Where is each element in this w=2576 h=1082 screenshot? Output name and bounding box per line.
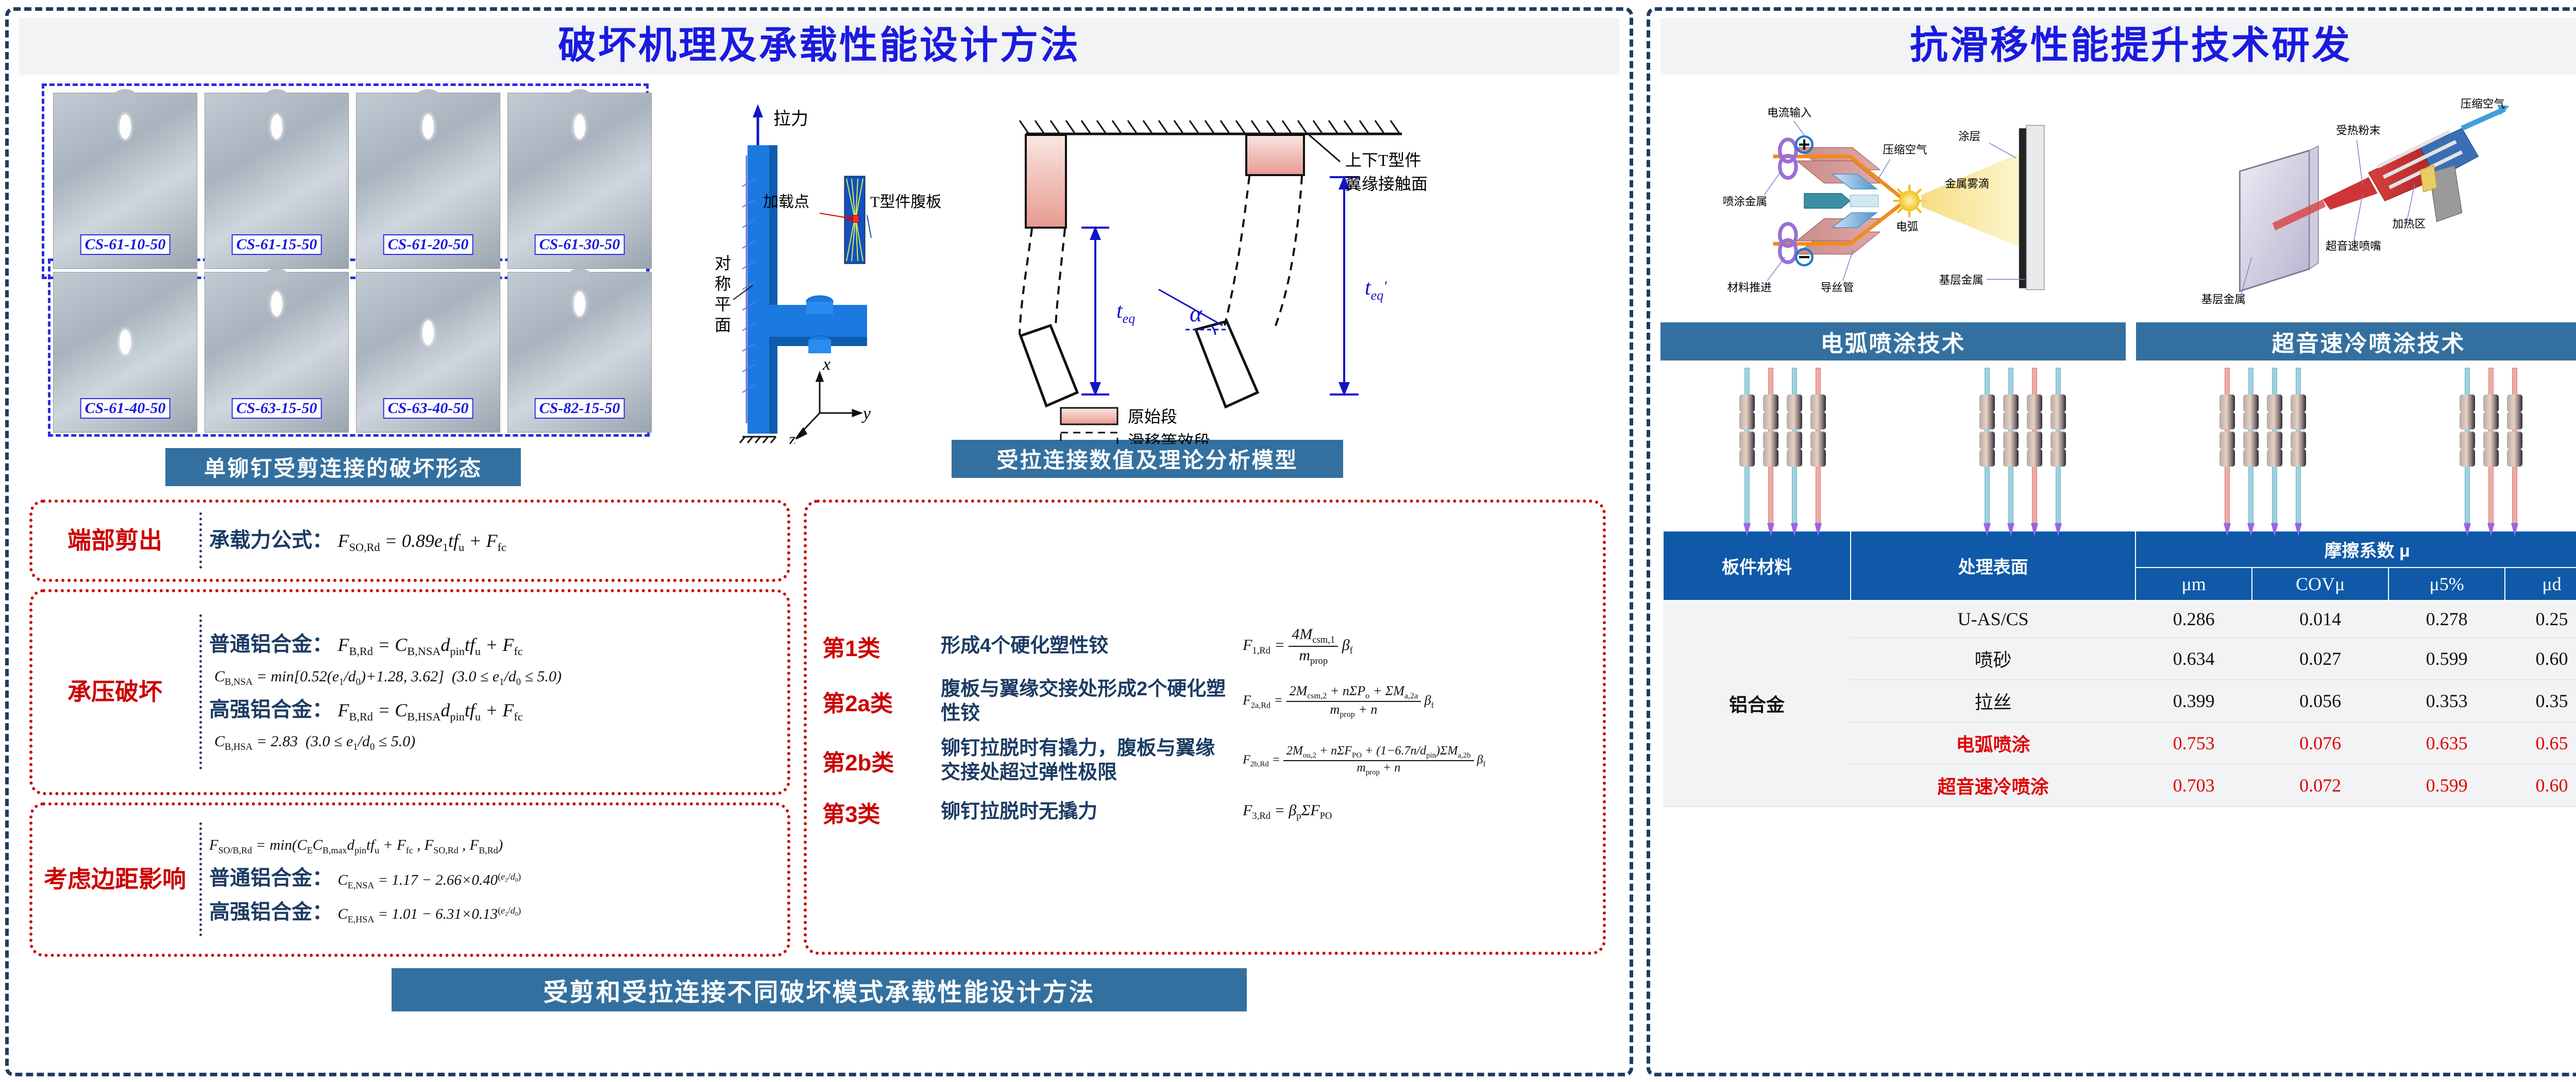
bolt-nut-icon [2460,394,2475,412]
bolt-nut-icon [1810,432,1826,449]
rivet-hole-icon [574,291,585,316]
formula-prefix: 高强铝合金： [209,698,333,721]
failure-class-row: 第2b类 铆钉拉脱时有撬力，腹板与翼缘交接处超过弹性极限 F2b,Rd = 2M… [822,736,1485,785]
specimen-label: CS-61-40-50 [80,398,171,419]
specimen-label: CS-63-40-50 [383,398,473,419]
tension-connection-diagram: 拉力 [665,83,1603,444]
svg-text:称: 称 [715,274,731,293]
bolt-specimen [2219,368,2235,522]
bolt-nut-icon [2460,432,2475,449]
svg-text:原始段: 原始段 [1128,407,1177,426]
bolt-nut-icon [1979,432,1995,449]
bolt-specimen [2267,368,2282,522]
bolt-nut-icon [1739,412,1755,430]
bolt-nut-icon [2003,394,2019,412]
bolt-specimen [2483,368,2499,522]
bolt-nut-icon [1739,394,1755,412]
bolt-nut-icon [1739,432,1755,449]
cell-cov: 0.027 [2252,638,2388,680]
formula-prefix: 承载力公式： [209,529,333,552]
rivet-hole-icon [120,330,131,354]
col-mu-m: μm [2136,568,2252,600]
rivet-bump-icon [265,89,288,102]
formula-prefix: 普通铝合金： [209,867,333,889]
bolt-nut-icon [2483,432,2499,449]
col-cov-mu: COVμ [2252,568,2388,600]
divider [199,614,202,769]
svg-text:z: z [788,430,795,444]
formula-censa: CE,NSA = 1.17 − 2.66×0.40(e2/d0) [337,872,521,888]
svg-text:金属雾滴: 金属雾滴 [1945,178,1989,190]
failure-class-row: 第3类 铆钉拉脱时无撬力 F3,Rd = βpΣFPO [822,796,1332,829]
bolt-nut-icon [2267,394,2282,412]
bolt-nut-icon [2243,394,2259,412]
svg-text:上下T型件: 上下T型件 [1345,151,1421,169]
panel-1-title: 破坏机理及承载性能设计方法 [19,18,1619,75]
rivet-hole-icon [271,291,282,316]
bolt-nut-icon [2267,412,2282,430]
bolt-group [1739,368,1826,522]
bolt-nut-icon [1810,449,1826,467]
bolt-specimen [1810,368,1826,522]
svg-text:基层金属: 基层金属 [2201,293,2246,305]
failure-class-text: 腹板与翼缘交接处形成2个硬化塑性铰 [941,677,1229,726]
failure-mode-label: 端部剪出 [38,527,192,554]
cell-mu5: 0.635 [2388,722,2505,764]
col-surface: 处理表面 [1851,531,2136,600]
failure-class-text: 铆钉拉脱时有撬力，腹板与翼缘交接处超过弹性极限 [941,736,1229,785]
cell-surface: 喷砂 [1851,638,2136,680]
bolt-specimen [2050,368,2066,522]
failure-class-formula: F2b,Rd = 2Mou,2 + nΣFPO + (1−6.7n/dpin)Σ… [1243,744,1485,777]
specimen-photo: CS-61-10-50 [53,93,197,269]
divider [199,822,202,936]
cell-surface: 拉丝 [1851,680,2136,722]
cell-mu5: 0.599 [2388,638,2505,680]
bolt-group [2219,368,2306,522]
cell-mu-m: 0.399 [2136,680,2252,722]
bolt-specimen-rows [1663,368,2576,522]
load-arrow-icon [2247,523,2255,537]
svg-text:y: y [861,404,871,423]
bolt-group [2460,368,2522,522]
formula-cehsa: CE,HSA = 1.01 − 6.31×0.13(e2/d0) [337,906,521,922]
bolt-nut-icon [2219,432,2235,449]
svg-text:x: x [822,355,831,374]
bolt-nut-icon [2027,432,2042,449]
bolt-specimen [2291,368,2306,522]
bolt-nut-icon [1739,449,1755,467]
svg-text:加载点: 加载点 [763,194,809,211]
bolt-nut-icon [2483,449,2499,467]
load-arrow-icon [2487,523,2495,537]
bolt-nut-icon [2243,412,2259,430]
bolt-specimen [2243,368,2259,522]
load-arrow-icon [2271,523,2278,537]
cell-material: 铝合金 [1663,600,1851,806]
design-formula-grid: 端部剪出 承载力公式： FSO,Rd = 0.89e1tfu + Ffc 承压破… [29,500,1606,957]
svg-text:喷涂金属: 喷涂金属 [1723,195,1767,208]
cell-mu5: 0.278 [2388,600,2505,638]
cell-mu-m: 0.703 [2136,764,2252,806]
cell-surface: U-AS/CS [1851,600,2136,638]
cell-mu-d: 0.25 [2505,600,2576,638]
load-arrow-icon [1743,523,1751,537]
bolt-nut-icon [2219,394,2235,412]
table-row: 铝合金 U-AS/CS 0.286 0.014 0.278 0.25 [1663,600,2576,638]
cell-cov: 0.072 [2252,764,2388,806]
cell-mu5: 0.599 [2388,764,2505,806]
rivet-hole-icon [120,114,131,139]
bolt-nut-icon [2483,412,2499,430]
specimen-photo: CS-61-30-50 [507,93,652,269]
bolt-nut-icon [2291,432,2306,449]
poster-board: 破坏机理及承载性能设计方法 CS-61-10-50 CS-61-15-50 [0,0,2576,1082]
failure-class-text: 铆钉拉脱时无撬力 [941,800,1229,825]
rivet-bump-icon [568,89,591,102]
failure-class-row: 第1类 形成4个硬化塑性铰 F1,Rd = 4Mcsm,1mprop βf [822,626,1353,667]
bolt-nut-icon [2050,449,2066,467]
cold-spray-card: 受热粉末 压缩空气 加热区 超音速喷嘴 基层金属 超音速冷喷涂技术 [2136,82,2576,360]
rivet-hole-icon [422,114,434,139]
bolt-nut-icon [1810,394,1826,412]
bolt-nut-icon [2219,449,2235,467]
failure-mode-body: FSO/B,Rd = min(CECB,maxdpintfu + Ffc , F… [209,832,521,927]
specimen-photo: CS-61-40-50 [53,272,197,433]
bolt-nut-icon [2507,449,2522,467]
bolt-specimen [1787,368,1802,522]
bolt-nut-icon [2483,394,2499,412]
bolt-specimen [2460,368,2475,522]
load-arrow-icon [2007,523,2014,537]
panel-2-title: 抗滑移性能提升技术研发 [1660,18,2576,75]
bolt-nut-icon [2003,449,2019,467]
failure-mode-bearing: 承压破坏 普通铝合金： FB,Rd = CB,NSAdpintfu + Ffc … [29,589,790,795]
caption-shear-failure-modes: 单铆钉受剪连接的破坏形态 [165,448,521,486]
failure-class-row: 第2a类 腹板与翼缘交接处形成2个硬化塑性铰 F2a,Rd = 2Mcsm,2 … [822,677,1434,726]
spray-technology-row: 电流输入 喷涂金属 材料推进 导丝管 压缩空气 电弧 涂层 金属雾滴 基层金属 [1660,82,2576,360]
cell-mu-d: 0.60 [2505,764,2576,806]
bolt-specimen [1979,368,1995,522]
cell-cov: 0.014 [2252,600,2388,638]
specimen-label: CS-61-20-50 [383,234,473,255]
load-arrow-icon [2055,523,2062,537]
bolt-nut-icon [1763,394,1778,412]
arc-spray-banner: 电弧喷涂技术 [1660,322,2126,360]
svg-text:对: 对 [715,254,731,272]
svg-text:平: 平 [715,295,731,314]
specimen-label: CS-82-15-50 [535,398,625,419]
bolt-nut-icon [1979,449,1995,467]
bolt-nut-icon [1763,412,1778,430]
load-arrow-icon [2031,523,2038,537]
load-arrow-icon [2464,523,2471,537]
divider [199,512,202,569]
cell-mu-d: 0.60 [2505,638,2576,680]
svg-text:涂层: 涂层 [1958,130,1980,143]
bolt-nut-icon [2507,432,2522,449]
bolt-nut-icon [1810,412,1826,430]
formula-shearout: FSO,Rd = 0.89e1tfu + Ffc [337,530,506,551]
specimen-photo: CS-63-40-50 [356,272,500,433]
bolt-nut-icon [2050,432,2066,449]
svg-text:导丝管: 导丝管 [1821,281,1854,294]
cell-mu-m: 0.753 [2136,722,2252,764]
col-material: 板件材料 [1663,531,1851,600]
failure-mode-column: 端部剪出 承载力公式： FSO,Rd = 0.89e1tfu + Ffc 承压破… [29,500,790,957]
bolt-nut-icon [2291,449,2306,467]
bolt-group [1979,368,2066,522]
failure-mode-body: 普通铝合金： FB,Rd = CB,NSAdpintfu + Ffc CB,NS… [209,629,562,754]
bolt-nut-icon [2291,394,2306,412]
cell-mu5: 0.353 [2388,680,2505,722]
cell-mu-d: 0.35 [2505,680,2576,722]
cell-mu-d: 0.65 [2505,722,2576,764]
friction-coefficient-table: 板件材料 处理表面 摩擦系数 μ μm COVμ μ5% μd 铝合金 U-AS… [1663,530,2576,807]
cold-spray-diagram: 受热粉末 压缩空气 加热区 超音速喷嘴 基层金属 [2136,82,2576,319]
panel-antislip-technology: 抗滑移性能提升技术研发 [1647,7,2576,1076]
rivet-bump-icon [568,268,591,282]
slip-equivalent-model: α teq [1020,121,1428,444]
formula-prefix: 普通铝合金： [209,633,333,656]
load-arrow-icon [2511,523,2518,537]
cell-mu-m: 0.286 [2136,600,2252,638]
specimen-photo: CS-61-15-50 [205,93,349,269]
svg-text:teq: teq [1116,299,1135,326]
bolt-nut-icon [1787,449,1802,467]
bolt-specimen [2003,368,2019,522]
failure-class-column: 第1类 形成4个硬化塑性铰 F1,Rd = 4Mcsm,1mprop βf 第2… [804,500,1606,957]
failure-class-name: 第2b类 [822,744,941,777]
col-mu-5pct: μ5% [2388,568,2505,600]
specimen-row-2: CS-61-40-50 CS-63-15-50 CS-63-40-50 CS-8… [53,272,652,433]
load-arrow-icon [1791,523,1798,537]
col-group-mu: 摩擦系数 μ [2136,531,2576,568]
svg-text:压缩空气: 压缩空气 [1883,144,1927,156]
cell-cov: 0.056 [2252,680,2388,722]
svg-text:翼缘接触面: 翼缘接触面 [1345,175,1428,193]
caption-tension-model: 受拉连接数值及理论分析模型 [952,440,1343,478]
panel-failure-mechanism: 破坏机理及承载性能设计方法 CS-61-10-50 CS-61-15-50 [5,7,1633,1076]
cell-mu-m: 0.634 [2136,638,2252,680]
bolt-nut-icon [2027,412,2042,430]
bolt-specimen [1763,368,1778,522]
formula-combined: FSO/B,Rd = min(CECB,maxdpintfu + Ffc , F… [209,837,503,853]
specimen-photo: CS-82-15-50 [507,272,652,433]
bolt-nut-icon [2027,449,2042,467]
specimen-grid: CS-61-10-50 CS-61-15-50 CS-61-20-50 CS-6… [42,83,650,439]
failure-mode-shearout: 端部剪出 承载力公式： FSO,Rd = 0.89e1tfu + Ffc [29,500,790,582]
arc-spray-card: 电流输入 喷涂金属 材料推进 导丝管 压缩空气 电弧 涂层 金属雾滴 基层金属 [1660,82,2126,360]
bolt-nut-icon [2243,449,2259,467]
bolt-nut-icon [2460,449,2475,467]
svg-text:拉力: 拉力 [773,109,808,129]
bolt-nut-icon [2291,412,2306,430]
failure-class-name: 第1类 [822,630,941,663]
arc-spray-diagram: 电流输入 喷涂金属 材料推进 导丝管 压缩空气 电弧 涂层 金属雾滴 基层金属 [1660,82,2126,319]
bolt-nut-icon [2460,412,2475,430]
load-arrow-icon [2295,523,2302,537]
bolt-nut-icon [2267,432,2282,449]
specimen-label: CS-61-30-50 [535,234,625,255]
specimen-label: CS-63-15-50 [232,398,322,419]
t-stub-3d: 拉力 [715,104,941,444]
svg-text:基层金属: 基层金属 [1939,274,1984,286]
svg-text:滑移等效段: 滑移等效段 [1128,432,1210,444]
failure-mode-label: 承压破坏 [38,678,192,706]
bolt-nut-icon [2050,412,2066,430]
svg-text:α: α [1190,300,1202,327]
rivet-hole-icon [271,114,282,139]
svg-text:超音速喷嘴: 超音速喷嘴 [2326,240,2381,252]
bolt-nut-icon [2027,394,2042,412]
load-arrow-icon [2224,523,2231,537]
bolt-nut-icon [2507,394,2522,412]
failure-class-formula: F1,Rd = 4Mcsm,1mprop βf [1243,626,1353,667]
rivet-hole-icon [422,320,434,345]
failure-class-name: 第2a类 [822,685,941,718]
formula-bearing-hsa: FB,Rd = CB,HSAdpintfu + Ffc [337,700,522,720]
failure-class-formula: F3,Rd = βpΣFPO [1243,802,1332,822]
bolt-nut-icon [1787,412,1802,430]
svg-text:材料推进: 材料推进 [1727,281,1772,294]
bolt-specimen [2027,368,2042,522]
failure-class-name: 第3类 [822,796,941,829]
specimen-row-1: CS-61-10-50 CS-61-15-50 CS-61-20-50 CS-6… [53,93,652,269]
specimen-photo: CS-63-15-50 [205,272,349,433]
svg-text:电流输入: 电流输入 [1767,107,1811,119]
failure-class-text: 形成4个硬化塑性铰 [941,634,1229,659]
cell-surface: 电弧喷涂 [1851,722,2136,764]
failure-mode-label: 考虑边距影响 [38,866,192,893]
svg-text:压缩空气: 压缩空气 [2461,98,2505,110]
bolt-nut-icon [2267,449,2282,467]
formula-bearing-nsa: FB,Rd = CB,NSAdpintfu + Ffc [337,634,522,655]
svg-text:加热区: 加热区 [2393,217,2426,230]
cell-surface: 超音速冷喷涂 [1851,764,2136,806]
col-mu-d: μd [2505,568,2576,600]
rivet-bump-icon [417,89,439,102]
load-arrow-icon [1984,523,1991,537]
bolt-nut-icon [2507,412,2522,430]
failure-mode-body: 承载力公式： FSO,Rd = 0.89e1tfu + Ffc [209,525,506,556]
bolt-nut-icon [2003,412,2019,430]
bolt-nut-icon [2219,412,2235,430]
panel-1-top-row: CS-61-10-50 CS-61-15-50 CS-61-20-50 CS-6… [9,83,1630,486]
rivet-hole-icon [574,114,585,139]
formula-cbnsa: CB,NSA = min[0.52(e1/d0)+1.28, 3.62] (3.… [214,668,562,685]
failure-class-formula: F2a,Rd = 2Mcsm,2 + nΣPo + ΣMa,2amprop + … [1243,683,1434,719]
load-arrow-icon [1815,523,1822,537]
rivet-bump-icon [114,89,137,102]
bolt-nut-icon [2003,432,2019,449]
rivet-bump-icon [265,268,288,282]
specimen-label: CS-61-15-50 [232,234,322,255]
bolt-specimen [2507,368,2522,522]
specimen-label: CS-61-10-50 [80,234,171,255]
bolt-nut-icon [1787,394,1802,412]
svg-text:电弧: 电弧 [1896,220,1918,233]
bolt-nut-icon [2243,432,2259,449]
svg-text:受热粉末: 受热粉末 [2336,124,2380,136]
panel-1-bottom-banner: 受剪和受拉连接不同破坏模式承载性能设计方法 [392,968,1247,1011]
tension-model-block: 拉力 [665,83,1630,486]
specimen-photo: CS-61-20-50 [356,93,500,269]
load-arrow-icon [1767,523,1774,537]
failure-mode-edge-distance: 考虑边距影响 FSO/B,Rd = min(CECB,maxdpintfu + … [29,802,790,957]
bolt-nut-icon [1763,432,1778,449]
bolt-nut-icon [2050,394,2066,412]
formula-cbhsa: CB,HSA = 2.83 (3.0 ≤ e1/d0 ≤ 5.0) [214,733,415,750]
formula-prefix: 高强铝合金： [209,901,333,923]
svg-text:T型件腹板: T型件腹板 [870,194,941,211]
svg-text:面: 面 [715,316,731,334]
tension-failure-classes: 第1类 形成4个硬化塑性铰 F1,Rd = 4Mcsm,1mprop βf 第2… [804,500,1606,955]
bolt-specimen [1739,368,1755,522]
bolt-nut-icon [1979,412,1995,430]
bolt-nut-icon [1787,432,1802,449]
svg-text:teq′: teq′ [1365,276,1387,303]
cold-spray-banner: 超音速冷喷涂技术 [2136,322,2576,360]
table-header-row: 板件材料 处理表面 摩擦系数 μ [1663,531,2576,568]
bolt-nut-icon [1763,449,1778,467]
specimen-photo-block: CS-61-10-50 CS-61-15-50 CS-61-20-50 CS-6… [21,83,665,486]
cell-cov: 0.076 [2252,722,2388,764]
bolt-nut-icon [1979,394,1995,412]
